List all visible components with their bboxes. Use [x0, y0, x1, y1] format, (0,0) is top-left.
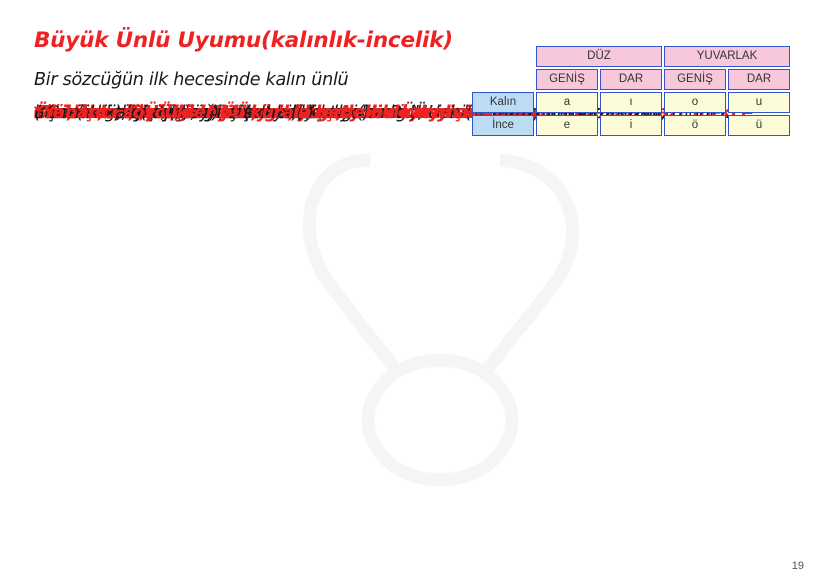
sub-header-yuvarlak-genis: GENİŞ — [664, 69, 726, 90]
slide-canvas: DÜZ YUVARLAK GENİŞ DAR GENİŞ DAR Kalın a… — [0, 0, 828, 586]
group-header-yuvarlak: YUVARLAK — [664, 46, 790, 67]
cell-kalin-yuvarlak-dar: u — [728, 92, 790, 113]
sub-header-yuvarlak-dar: DAR — [728, 69, 790, 90]
table-corner-spacer — [472, 46, 534, 67]
table-corner-spacer-2 — [472, 69, 534, 90]
table-row-ince: İnce e i ö ü — [472, 115, 790, 136]
table-row-kalin: Kalın a ı o u — [472, 92, 790, 113]
row-label-ince: İnce — [472, 115, 534, 136]
cell-ince-duz-dar: i — [600, 115, 662, 136]
cell-kalin-yuvarlak-genis: o — [664, 92, 726, 113]
sub-header-duz-dar: DAR — [600, 69, 662, 90]
vowel-harmony-table: DÜZ YUVARLAK GENİŞ DAR GENİŞ DAR Kalın a… — [470, 44, 792, 138]
group-header-duz: DÜZ — [536, 46, 662, 67]
table-sub-header-row: GENİŞ DAR GENİŞ DAR — [472, 69, 790, 90]
watermark-logo — [250, 120, 670, 520]
note-line-5-segment-0: *Yabancı sözcükler bu kurala genellikle … — [34, 103, 486, 123]
table-group-header-row: DÜZ YUVARLAK — [472, 46, 790, 67]
row-label-kalin: Kalın — [472, 92, 534, 113]
vowel-table-grid: DÜZ YUVARLAK GENİŞ DAR GENİŞ DAR Kalın a… — [470, 44, 792, 138]
cell-kalin-duz-dar: ı — [600, 92, 662, 113]
cell-ince-duz-genis: e — [536, 115, 598, 136]
cell-ince-yuvarlak-genis: ö — [664, 115, 726, 136]
page-number: 19 — [792, 560, 804, 572]
cell-kalin-duz-genis: a — [536, 92, 598, 113]
rule-line-1-segment-0: Bir sözcüğün ilk hecesinde kalın ünlü — [34, 70, 348, 90]
cell-ince-yuvarlak-dar: ü — [728, 115, 790, 136]
sub-header-duz-genis: GENİŞ — [536, 69, 598, 90]
